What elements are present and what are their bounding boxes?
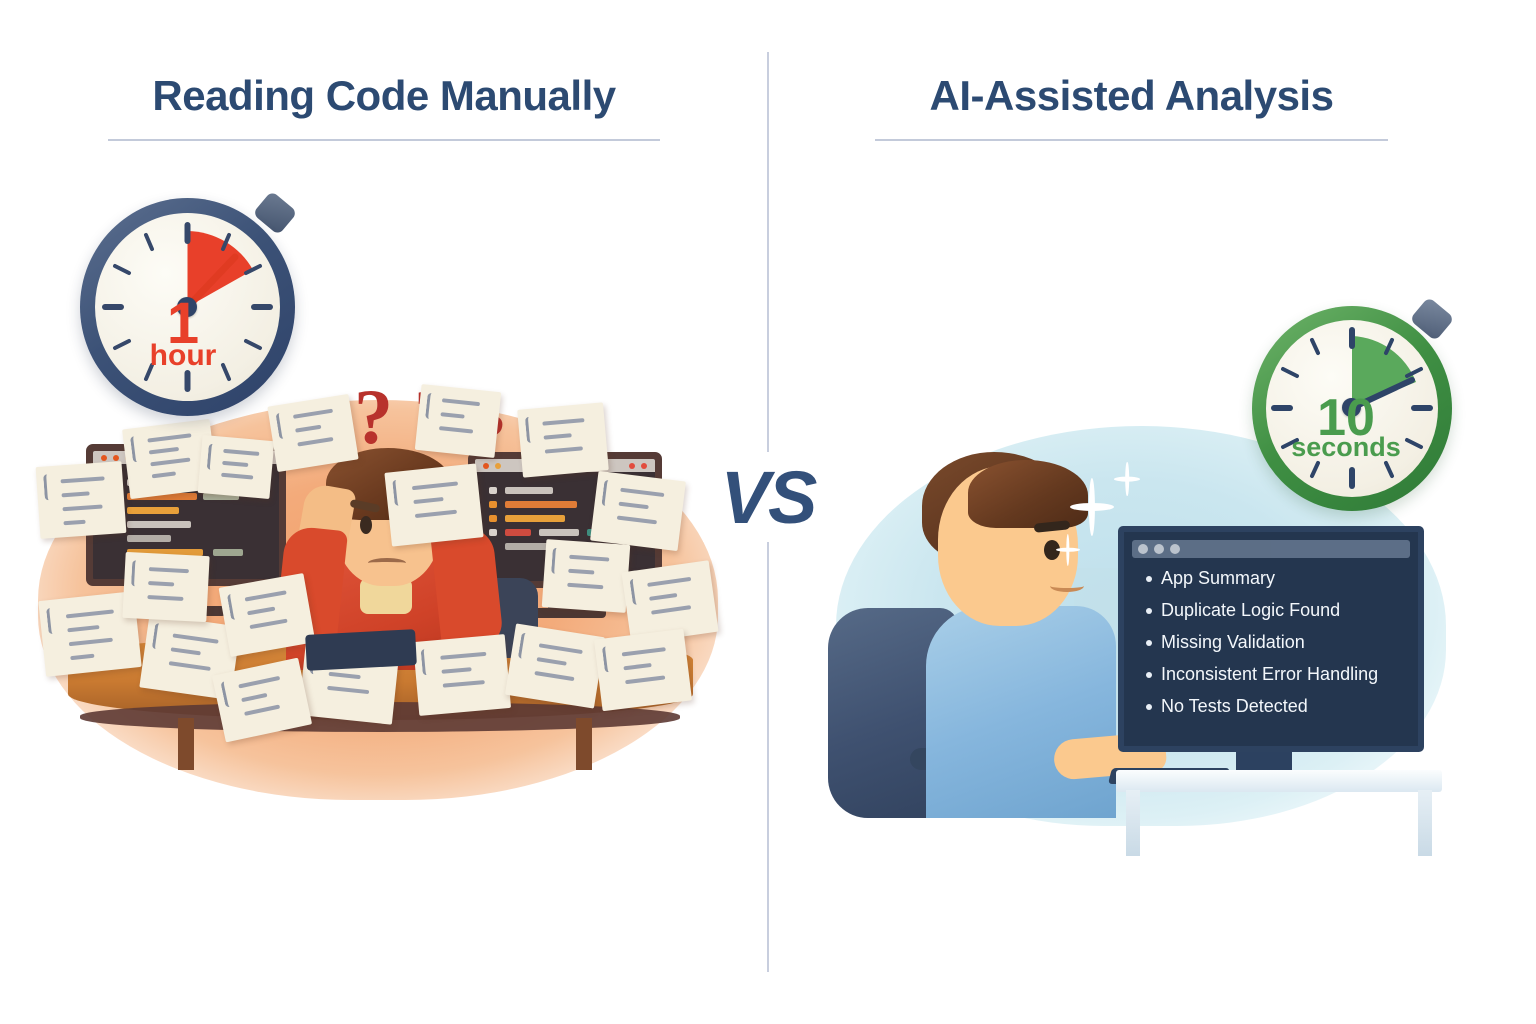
- bullet-icon: [1146, 704, 1152, 710]
- list-item: Missing Validation: [1146, 632, 1408, 653]
- desk-leg: [178, 718, 194, 770]
- stopwatch-readout-ai: 10 seconds: [1270, 392, 1422, 461]
- bullet-icon: [1146, 576, 1152, 582]
- list-item: Inconsistent Error Handling: [1146, 664, 1408, 685]
- scene-manual-review: ? ? ? ?: [28, 382, 728, 832]
- code-paper: [219, 573, 316, 657]
- stopwatch-face: 1 hour: [95, 213, 280, 401]
- laptop-stack: [305, 629, 417, 671]
- list-item: No Tests Detected: [1146, 696, 1408, 717]
- smile-mouth: [1050, 580, 1084, 592]
- window-dot: [1170, 544, 1180, 554]
- code-paper: [198, 435, 275, 499]
- stopwatch-readout-manual: 1 hour: [103, 295, 263, 371]
- code-paper: [384, 463, 483, 546]
- window-dot: [1138, 544, 1148, 554]
- list-item: App Summary: [1146, 568, 1408, 589]
- sparkle-icon: [1056, 534, 1080, 566]
- code-paper: [122, 552, 209, 622]
- vs-label: VS: [721, 455, 816, 540]
- ai-report-monitor: App Summary Duplicate Logic Found Missin…: [1118, 526, 1424, 752]
- code-paper: [594, 629, 692, 711]
- code-paper: [413, 634, 511, 716]
- stopwatch-unit: seconds: [1270, 434, 1422, 461]
- monitor-window-titlebar: [1132, 540, 1410, 558]
- code-paper: [415, 384, 501, 458]
- desk-leg: [1126, 790, 1140, 856]
- eye-left: [360, 516, 372, 534]
- bullet-icon: [1146, 640, 1152, 646]
- sparkle-icon: [1114, 462, 1140, 496]
- stopwatch-face: 10 seconds: [1266, 320, 1438, 497]
- list-item: Duplicate Logic Found: [1146, 600, 1408, 621]
- code-paper: [505, 623, 605, 708]
- desk-leg: [1418, 790, 1432, 856]
- finding-label: Inconsistent Error Handling: [1161, 664, 1378, 685]
- title-underline-left: [108, 139, 660, 141]
- desk-leg: [576, 718, 592, 770]
- code-paper: [590, 471, 686, 551]
- finding-label: Missing Validation: [1161, 632, 1305, 653]
- code-paper: [542, 539, 631, 613]
- finding-label: Duplicate Logic Found: [1161, 600, 1340, 621]
- bullet-icon: [1146, 608, 1152, 614]
- comparison-infographic: Reading Code Manually AI-Assisted Analys…: [0, 0, 1536, 1024]
- bullet-icon: [1146, 672, 1152, 678]
- finding-label: No Tests Detected: [1161, 696, 1308, 717]
- developer-torso: [926, 606, 1116, 818]
- title-underline-right: [875, 139, 1388, 141]
- question-mark-icon: ?: [354, 382, 393, 456]
- panel-title-left: Reading Code Manually: [108, 72, 660, 120]
- vs-badge: VS: [703, 452, 833, 542]
- stopwatch-ai: 10 seconds: [1252, 306, 1452, 511]
- stopwatch-unit: hour: [103, 341, 263, 371]
- ai-findings-list: App Summary Duplicate Logic Found Missin…: [1146, 568, 1408, 728]
- code-paper: [36, 461, 127, 539]
- desk: [1116, 770, 1442, 792]
- panel-title-right: AI-Assisted Analysis: [875, 72, 1388, 120]
- stopwatch-manual: 1 hour: [80, 198, 295, 416]
- frown-mouth: [368, 558, 406, 568]
- sparkle-icon: [1070, 478, 1114, 536]
- window-dot: [1154, 544, 1164, 554]
- code-paper: [517, 402, 609, 477]
- finding-label: App Summary: [1161, 568, 1275, 589]
